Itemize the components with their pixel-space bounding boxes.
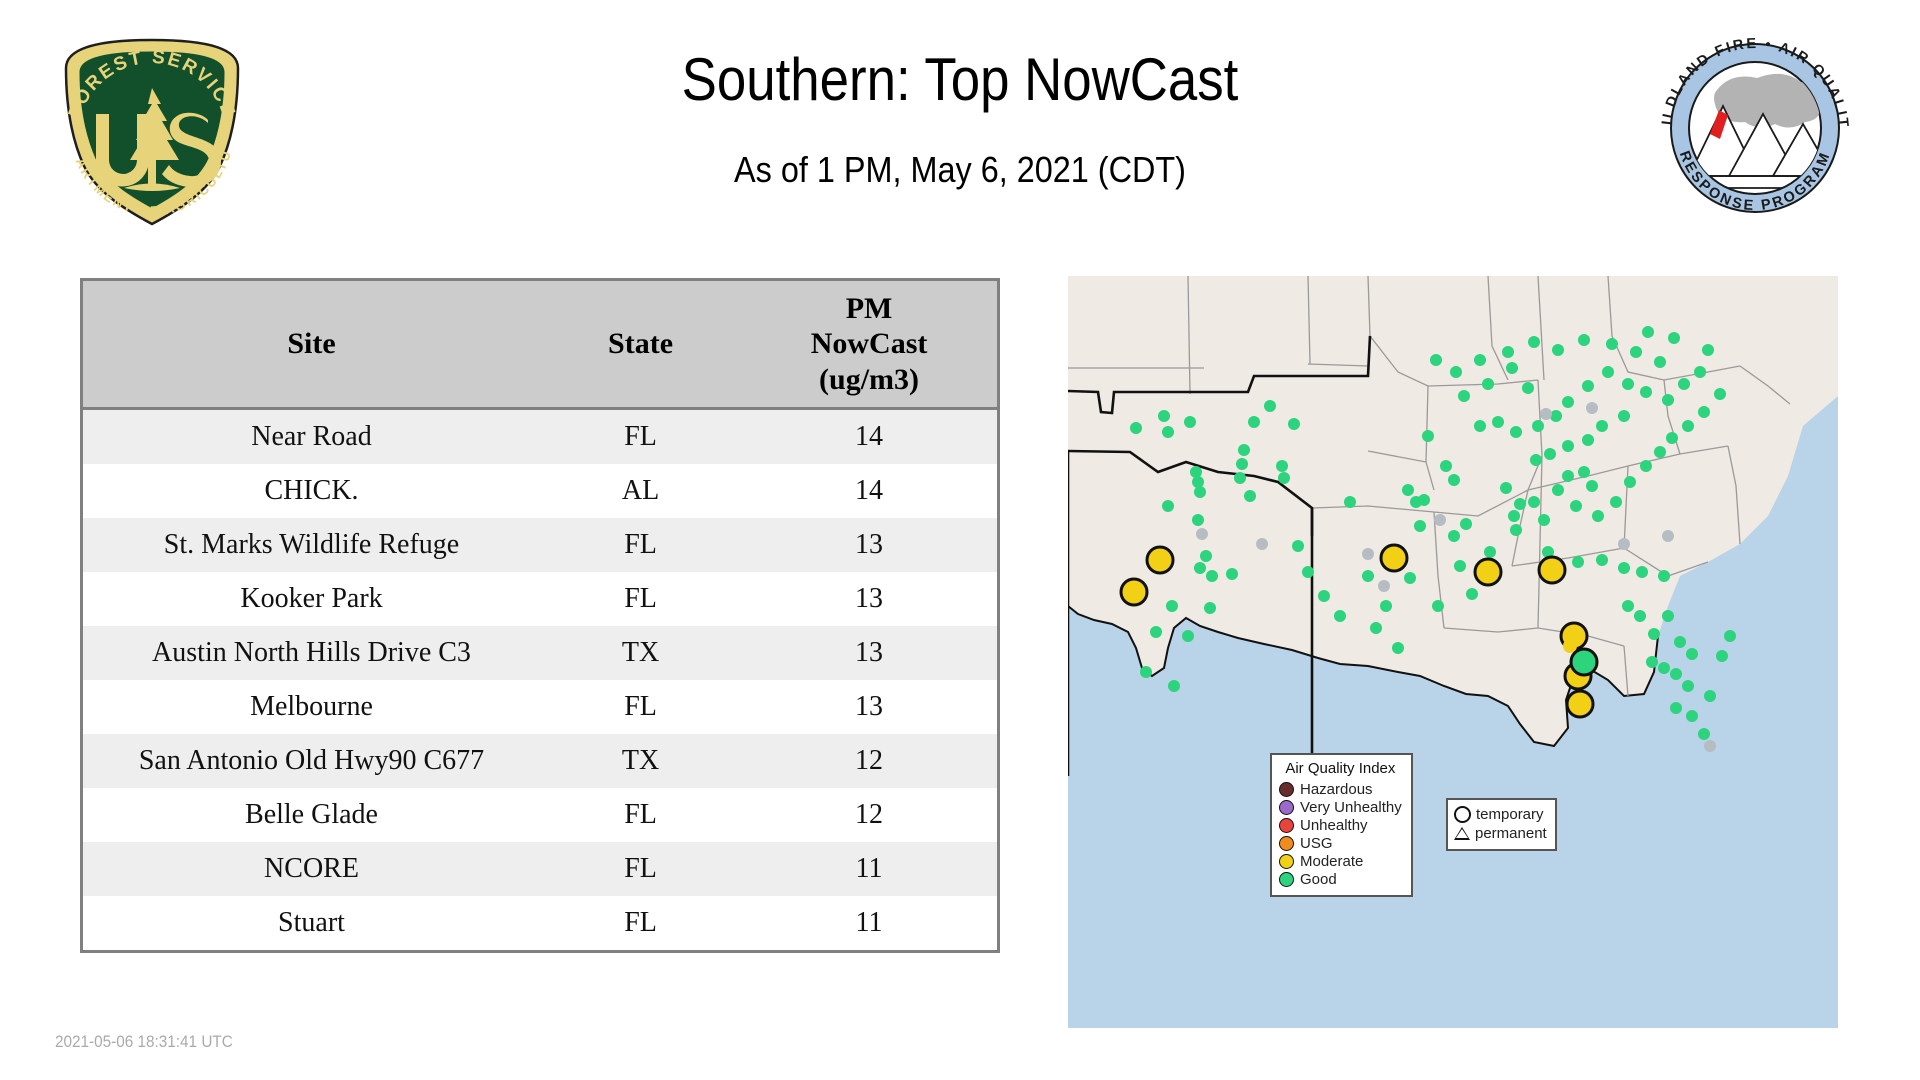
cell-state: FL [540, 409, 741, 465]
triangle-icon [1454, 827, 1470, 840]
usfs-shield-logo: FOREST SERVICE DEPARTMENT OF AGRICULTURE [52, 28, 252, 236]
cell-site: Kooker Park [83, 572, 540, 626]
cell-state: TX [540, 734, 741, 788]
symbol-legend-label: permanent [1475, 825, 1547, 842]
aqi-legend-item-usg: USG [1279, 834, 1402, 852]
map-canvas[interactable] [1068, 276, 1838, 1028]
title-block: Southern: Top NowCast As of 1 PM, May 6,… [300, 48, 1620, 191]
cell-value: 13 [741, 680, 997, 734]
table-header: Site State PM NowCast (ug/m3) [83, 281, 997, 409]
column-header-site: Site [83, 281, 540, 409]
top-nowcast-table: Site State PM NowCast (ug/m3) Near Road … [83, 281, 997, 950]
table-row: NCORE FL 11 [83, 842, 997, 896]
aqi-legend: Air Quality Index Hazardous Very Unhealt… [1270, 753, 1413, 897]
cell-state: TX [540, 626, 741, 680]
symbol-legend-item-temporary: temporary [1454, 805, 1547, 824]
cell-value: 14 [741, 409, 997, 465]
cell-site: Near Road [83, 409, 540, 465]
table-body: Near Road FL 14 CHICK. AL 14 St. Marks W… [83, 409, 997, 951]
aqi-legend-label: USG [1300, 836, 1333, 851]
aqi-legend-item-very-unhealthy: Very Unhealthy [1279, 798, 1402, 816]
wildland-fire-air-quality-logo: WILDLAND FIRE • AIR QUALITY RESPONSE PRO… [1655, 28, 1855, 228]
cell-state: FL [540, 896, 741, 950]
aqi-legend-label: Moderate [1300, 854, 1363, 869]
aqi-legend-item-hazardous: Hazardous [1279, 780, 1402, 798]
table-row: Melbourne FL 13 [83, 680, 997, 734]
table-row: Stuart FL 11 [83, 896, 997, 950]
cell-value: 13 [741, 626, 997, 680]
symbol-legend: temporary permanent [1446, 798, 1557, 851]
top-nowcast-table-container: Site State PM NowCast (ug/m3) Near Road … [80, 278, 1000, 953]
aqi-legend-title: Air Quality Index [1279, 760, 1402, 777]
cell-value: 11 [741, 842, 997, 896]
table-row: Belle Glade FL 12 [83, 788, 997, 842]
cell-value: 13 [741, 518, 997, 572]
cell-site: San Antonio Old Hwy90 C677 [83, 734, 540, 788]
cell-site: CHICK. [83, 464, 540, 518]
cell-site: St. Marks Wildlife Refuge [83, 518, 540, 572]
cell-value: 14 [741, 464, 997, 518]
aqi-swatch-moderate [1279, 854, 1294, 869]
cell-value: 12 [741, 788, 997, 842]
page-subtitle: As of 1 PM, May 6, 2021 (CDT) [366, 149, 1554, 191]
cell-site: Austin North Hills Drive C3 [83, 626, 540, 680]
table-row: St. Marks Wildlife Refuge FL 13 [83, 518, 997, 572]
column-header-line-1: PM [745, 291, 993, 326]
table-header-row: Site State PM NowCast (ug/m3) [83, 281, 997, 409]
cell-state: FL [540, 680, 741, 734]
aqi-swatch-good [1279, 872, 1294, 887]
timestamp: 2021-05-06 18:31:41 UTC [55, 1032, 233, 1052]
cell-site: Stuart [83, 896, 540, 950]
symbol-legend-item-permanent: permanent [1454, 824, 1547, 843]
aqi-legend-label: Very Unhealthy [1300, 800, 1402, 815]
cell-state: FL [540, 518, 741, 572]
column-header-line-2: NowCast [745, 326, 993, 361]
cell-state: AL [540, 464, 741, 518]
aqi-legend-item-good: Good [1279, 870, 1402, 888]
cell-site: Belle Glade [83, 788, 540, 842]
table-row: San Antonio Old Hwy90 C677 TX 12 [83, 734, 997, 788]
cell-state: FL [540, 842, 741, 896]
aqi-legend-item-moderate: Moderate [1279, 852, 1402, 870]
table-row: Austin North Hills Drive C3 TX 13 [83, 626, 997, 680]
aqi-legend-label: Good [1300, 872, 1337, 887]
aqi-swatch-usg [1279, 836, 1294, 851]
cell-value: 13 [741, 572, 997, 626]
symbol-legend-label: temporary [1476, 806, 1544, 823]
aqi-swatch-unhealthy [1279, 818, 1294, 833]
cell-value: 11 [741, 896, 997, 950]
cell-state: FL [540, 572, 741, 626]
table-row: CHICK. AL 14 [83, 464, 997, 518]
column-header-pm-nowcast: PM NowCast (ug/m3) [741, 281, 997, 409]
column-header-state: State [540, 281, 741, 409]
aqi-swatch-hazardous [1279, 782, 1294, 797]
aqi-legend-label: Unhealthy [1300, 818, 1368, 833]
aqi-legend-label: Hazardous [1300, 782, 1373, 797]
cell-site: NCORE [83, 842, 540, 896]
table-row: Near Road FL 14 [83, 409, 997, 465]
cell-state: FL [540, 788, 741, 842]
aqi-marker-good-large-group[interactable] [1571, 649, 1597, 675]
circle-icon [1454, 806, 1471, 823]
column-header-line-3: (ug/m3) [745, 362, 993, 397]
cell-value: 12 [741, 734, 997, 788]
aqi-swatch-very-unhealthy [1279, 800, 1294, 815]
table-row: Kooker Park FL 13 [83, 572, 997, 626]
page-title: Southern: Top NowCast [379, 48, 1541, 111]
cell-site: Melbourne [83, 680, 540, 734]
aqi-legend-item-unhealthy: Unhealthy [1279, 816, 1402, 834]
southern-region-aqi-map[interactable]: Air Quality Index Hazardous Very Unhealt… [1068, 276, 1838, 1028]
